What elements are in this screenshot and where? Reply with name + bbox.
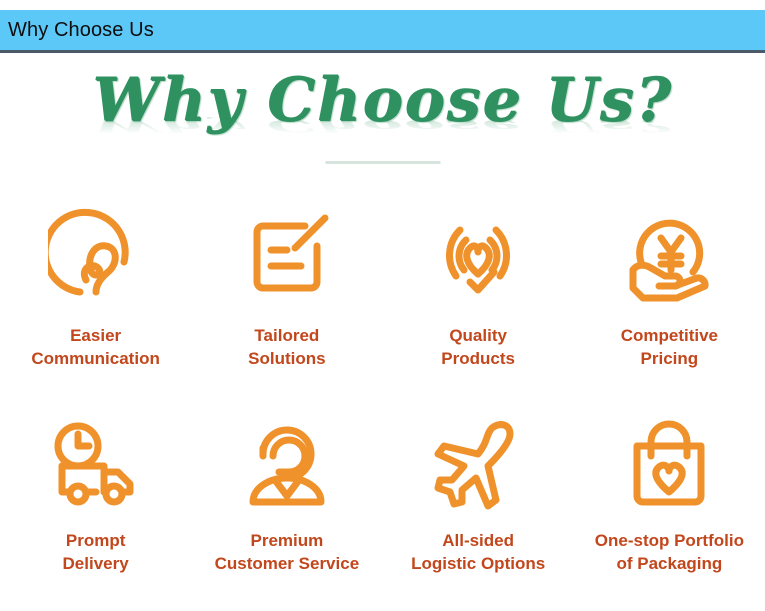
airplane-icon [430, 411, 526, 516]
document-pencil-icon [239, 196, 335, 311]
feature-label: All-sided Logistic Options [407, 530, 549, 576]
feature-card-tailored-solutions[interactable]: Tailored Solutions [191, 196, 382, 411]
feature-label: One-stop Portfolio of Packaging [591, 530, 748, 576]
feature-label: Competitive Pricing [617, 325, 722, 371]
feature-label: Tailored Solutions [244, 325, 329, 371]
shopping-bag-heart-icon [621, 411, 717, 516]
feature-card-premium-customer-service[interactable]: Premium Customer Service [191, 411, 382, 611]
delivery-truck-clock-icon [48, 411, 144, 516]
feature-card-competitive-pricing[interactable]: Competitive Pricing [574, 196, 765, 411]
feature-card-prompt-delivery[interactable]: Prompt Delivery [0, 411, 191, 611]
feature-label: Premium Customer Service [211, 530, 364, 576]
features-grid: Easier Communication Tailored Solutions [0, 196, 765, 611]
heart-signal-check-icon [430, 196, 526, 311]
hero-headline: Why Choose Us? [0, 70, 765, 130]
feature-card-quality-products[interactable]: Quality Products [383, 196, 574, 411]
feature-label: Easier Communication [27, 325, 163, 371]
hero-divider [325, 161, 440, 164]
feature-label: Prompt Delivery [59, 530, 133, 576]
headset-agent-icon [239, 411, 335, 516]
feature-card-all-sided-logistic-options[interactable]: All-sided Logistic Options [383, 411, 574, 611]
hand-holding-yen-coin-icon [621, 196, 717, 311]
feature-card-easier-communication[interactable]: Easier Communication [0, 196, 191, 411]
feature-card-one-stop-portfolio-of-packaging[interactable]: One-stop Portfolio of Packaging [574, 411, 765, 611]
window-title-banner: Why Choose Us [0, 10, 765, 53]
page-title: Why Choose Us [0, 19, 154, 42]
hero-section: Why Choose Us? Why Choose Us? [0, 56, 765, 164]
ear-in-circle-icon [48, 196, 144, 311]
feature-label: Quality Products [437, 325, 519, 371]
